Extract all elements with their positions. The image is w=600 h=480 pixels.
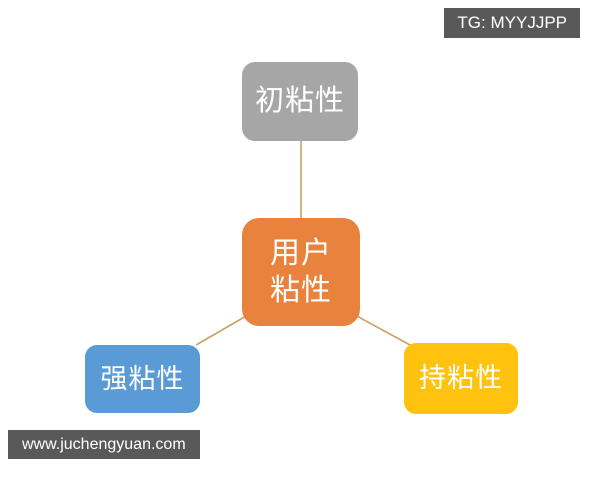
diagram-canvas: 初粘性 用户 粘性 强粘性 持粘性 TG: MYYJJPP www.juchen… xyxy=(0,0,600,480)
node-center-yong-hu-nian-xing[interactable]: 用户 粘性 xyxy=(242,218,360,326)
website-watermark: www.juchengyuan.com xyxy=(8,430,200,459)
node-top-chu-nian-xing[interactable]: 初粘性 xyxy=(242,62,358,141)
telegram-watermark: TG: MYYJJPP xyxy=(444,8,580,38)
connector-center-to-left xyxy=(196,315,248,345)
node-left-qiang-nian-xing[interactable]: 强粘性 xyxy=(85,345,200,413)
connector-center-to-right xyxy=(355,315,410,345)
node-right-chi-nian-xing[interactable]: 持粘性 xyxy=(404,343,518,414)
